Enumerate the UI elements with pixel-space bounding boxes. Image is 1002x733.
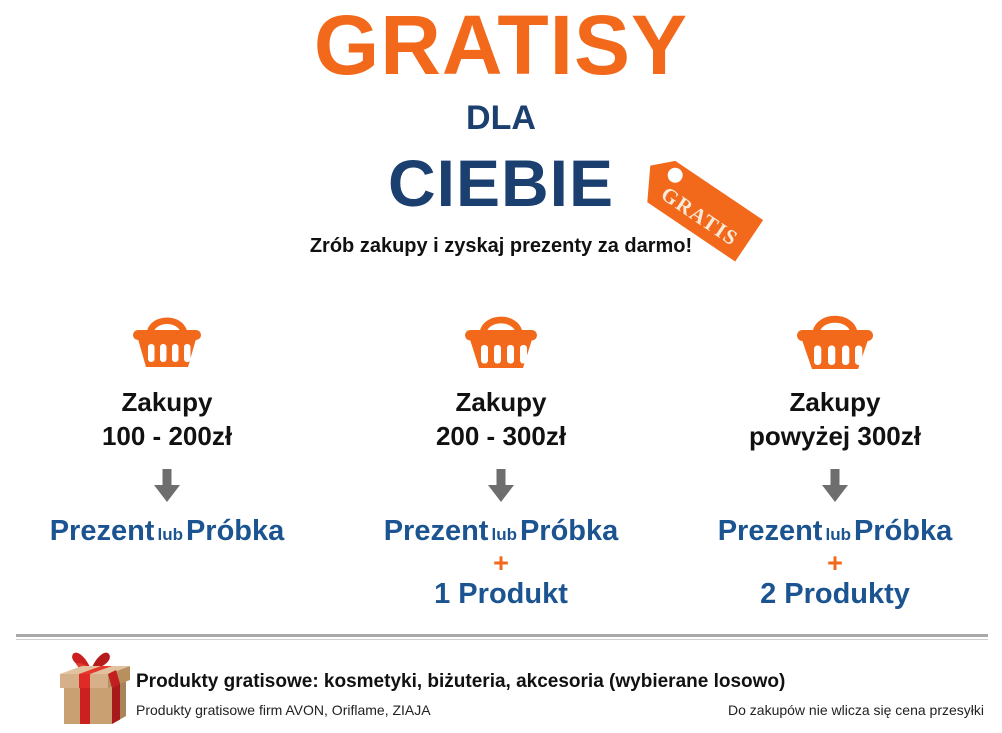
reward-plus-sign: +: [668, 550, 1002, 577]
footer-note-left: Produkty gratisowe firm AVON, Oriflame, …: [136, 703, 431, 717]
footer-note-right: Do zakupów nie wlicza się cena przesyłki: [728, 703, 984, 717]
tier-columns: Zakupy 100 - 200zł PrezentlubPróbka: [0, 305, 1002, 630]
reward-second: Próbka: [520, 515, 618, 547]
shopping-basket-icon: [0, 305, 334, 377]
reward-extra: 2 Produkty: [668, 579, 1002, 610]
reward-conjunction: lub: [154, 525, 186, 544]
gift-box-icon: [46, 648, 136, 732]
tier-title-line1: Zakupy: [334, 385, 668, 419]
shopping-basket-icon: [668, 305, 1002, 377]
reward-extra: 1 Produkt: [334, 579, 668, 610]
tier-title-line2: 200 - 300zł: [334, 419, 668, 453]
shopping-basket-icon: [334, 305, 668, 377]
reward-first: Prezent: [384, 515, 489, 547]
footer-headline: Produkty gratisowe: kosmetyki, biżuteria…: [136, 672, 986, 691]
tier-title-line2: powyżej 300zł: [668, 419, 1002, 453]
tier-title: Zakupy powyżej 300zł: [668, 385, 1002, 454]
tier-column-1: Zakupy 100 - 200zł PrezentlubPróbka: [0, 305, 334, 546]
poster-footer: Produkty gratisowe: kosmetyki, biżuteria…: [0, 646, 1002, 733]
arrow-down-icon: [0, 468, 334, 504]
divider-line-thin: [16, 639, 988, 640]
divider: [16, 634, 988, 641]
tier-reward: PrezentlubPróbka: [668, 516, 1002, 547]
reward-first: Prezent: [50, 515, 155, 547]
subtitle: Zrób zakupy i zyskaj prezenty za darmo!: [0, 236, 1002, 256]
reward-conjunction: lub: [488, 525, 520, 544]
tier-reward: PrezentlubPróbka: [0, 516, 334, 547]
promo-poster: GRATISY DLA CIEBIE Zrób zakupy i zyskaj …: [0, 0, 1002, 733]
reward-plus-sign: +: [334, 550, 668, 577]
tier-title-line1: Zakupy: [668, 385, 1002, 419]
tier-reward: PrezentlubPróbka: [334, 516, 668, 547]
tier-title-line1: Zakupy: [0, 385, 334, 419]
tier-column-3: Zakupy powyżej 300zł PrezentlubPróbka + …: [668, 305, 1002, 610]
tier-title-line2: 100 - 200zł: [0, 419, 334, 453]
page-title: GRATISY: [0, 3, 1002, 87]
tier-column-2: Zakupy 200 - 300zł PrezentlubPróbka + 1 …: [334, 305, 668, 610]
reward-conjunction: lub: [822, 525, 854, 544]
title-dla: DLA: [0, 101, 1002, 135]
poster-header: GRATISY DLA CIEBIE Zrób zakupy i zyskaj …: [0, 0, 1002, 285]
price-tag-badge: GRATIS GRATIS: [618, 160, 768, 270]
arrow-down-icon: [334, 468, 668, 504]
reward-second: Próbka: [854, 515, 952, 547]
reward-second: Próbka: [186, 515, 284, 547]
divider-line-thick: [16, 634, 988, 637]
title-ciebie: CIEBIE: [0, 150, 1002, 216]
reward-first: Prezent: [718, 515, 823, 547]
tier-title: Zakupy 100 - 200zł: [0, 385, 334, 454]
arrow-down-icon: [668, 468, 1002, 504]
tier-title: Zakupy 200 - 300zł: [334, 385, 668, 454]
